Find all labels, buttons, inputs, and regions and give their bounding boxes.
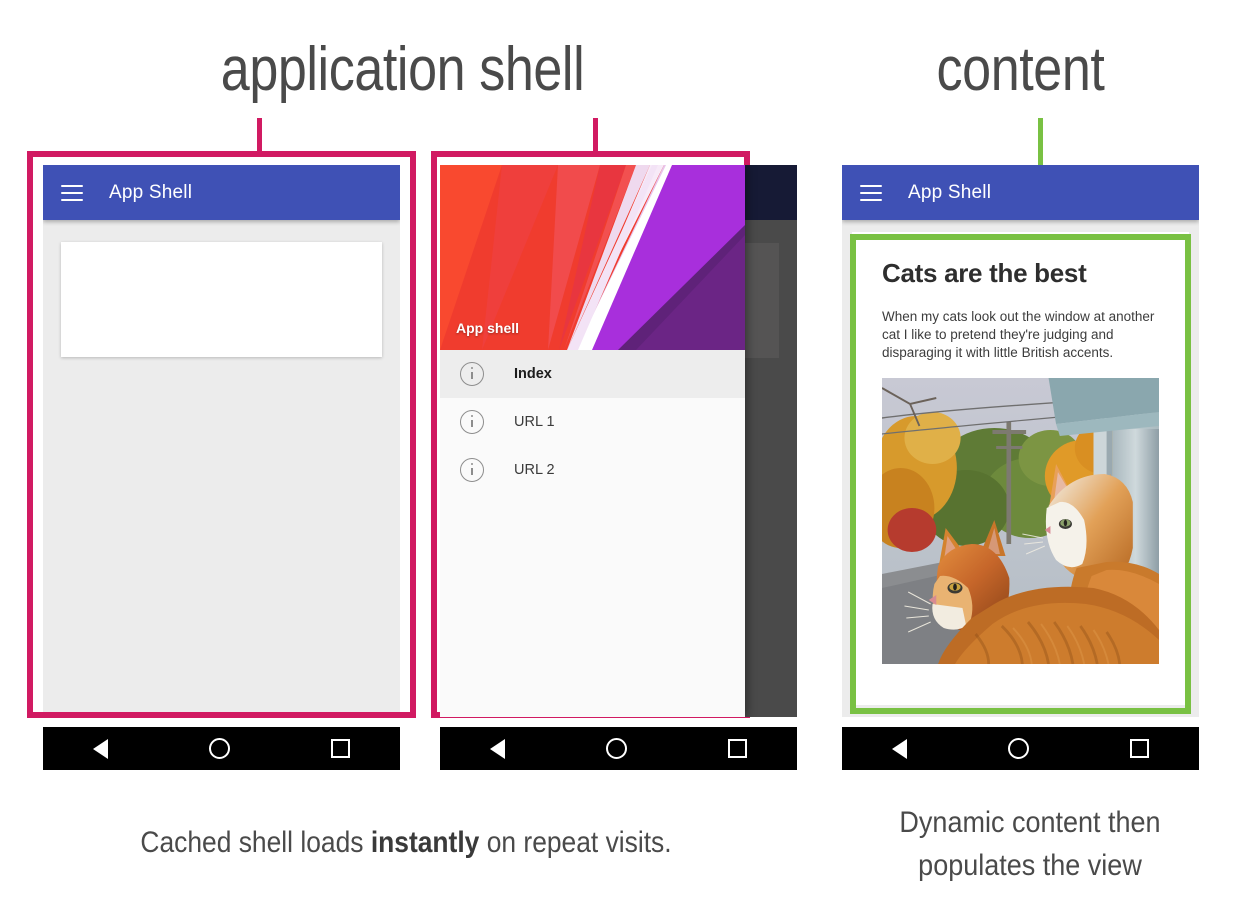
phone-3-appbar: App Shell	[842, 165, 1199, 220]
back-triangle-icon[interactable]	[490, 739, 505, 759]
navigation-drawer: App shell Index URL 1 URL 2	[440, 165, 745, 717]
two-orange-tabby-cats-looking-out-window	[882, 378, 1159, 664]
info-circle-icon	[460, 458, 484, 482]
drawer-header-label: App shell	[456, 320, 519, 336]
drawer-item-url-2[interactable]: URL 2	[440, 446, 745, 494]
cat-photo-illustration	[882, 378, 1159, 664]
recents-square-icon[interactable]	[728, 739, 747, 758]
caption-right-line-2: populates the view	[850, 845, 1210, 888]
caption-left-prefix: Cached shell loads	[140, 826, 370, 859]
phone-1-appbar: App Shell	[43, 165, 400, 220]
drawer-item-list: Index URL 1 URL 2	[440, 350, 745, 494]
caption-left-suffix: on repeat visits.	[479, 826, 671, 859]
caption-right-line-1: Dynamic content then	[850, 802, 1210, 845]
drawer-item-url-1[interactable]: URL 1	[440, 398, 745, 446]
info-circle-icon	[460, 410, 484, 434]
drawer-header: App shell	[440, 165, 745, 350]
drawer-item-label: URL 2	[514, 462, 555, 478]
drawer-item-label: URL 1	[514, 414, 555, 430]
caption-left-bold: instantly	[371, 826, 480, 859]
connector-line-shell-2	[593, 118, 598, 156]
phone-1-body	[43, 220, 400, 717]
home-circle-icon[interactable]	[606, 738, 627, 759]
phone-2-screen: App shell Index URL 1 URL 2	[440, 165, 797, 717]
application-shell-label: application shell	[64, 34, 740, 105]
phone-mockup-drawer-open: App shell Index URL 1 URL 2	[440, 165, 797, 770]
appbar-title: App Shell	[908, 182, 991, 204]
connector-line-shell-1	[257, 118, 262, 156]
phone-1-screen: App Shell	[43, 165, 400, 717]
drawer-item-label: Index	[514, 366, 552, 382]
article-card: Cats are the best When my cats look out …	[852, 232, 1189, 705]
appbar-title: App Shell	[109, 182, 192, 204]
caption-dynamic-content: Dynamic content then populates the view	[850, 802, 1210, 887]
home-circle-icon[interactable]	[209, 738, 230, 759]
caption-cached-shell: Cached shell loads instantly on repeat v…	[49, 826, 764, 860]
phone-3-android-navbar	[842, 727, 1199, 770]
back-triangle-icon[interactable]	[892, 739, 907, 759]
content-label: content	[867, 34, 1174, 105]
article-title: Cats are the best	[882, 258, 1159, 289]
phone-1-android-navbar	[43, 727, 400, 770]
phone-2-android-navbar	[440, 727, 797, 770]
phone-3-screen: App Shell Cats are the best When my cats…	[842, 165, 1199, 717]
home-circle-icon[interactable]	[1008, 738, 1029, 759]
phone-mockup-empty-shell: App Shell	[43, 165, 400, 770]
hamburger-menu-icon[interactable]	[61, 185, 83, 201]
recents-square-icon[interactable]	[331, 739, 350, 758]
article-body-text: When my cats look out the window at anot…	[882, 308, 1159, 362]
info-circle-icon	[460, 362, 484, 386]
back-triangle-icon[interactable]	[93, 739, 108, 759]
recents-square-icon[interactable]	[1130, 739, 1149, 758]
phone-3-body: Cats are the best When my cats look out …	[842, 220, 1199, 717]
hamburger-menu-icon[interactable]	[860, 185, 882, 201]
empty-placeholder-card	[61, 242, 382, 357]
phone-mockup-with-content: App Shell Cats are the best When my cats…	[842, 165, 1199, 770]
drawer-item-index[interactable]: Index	[440, 350, 745, 398]
